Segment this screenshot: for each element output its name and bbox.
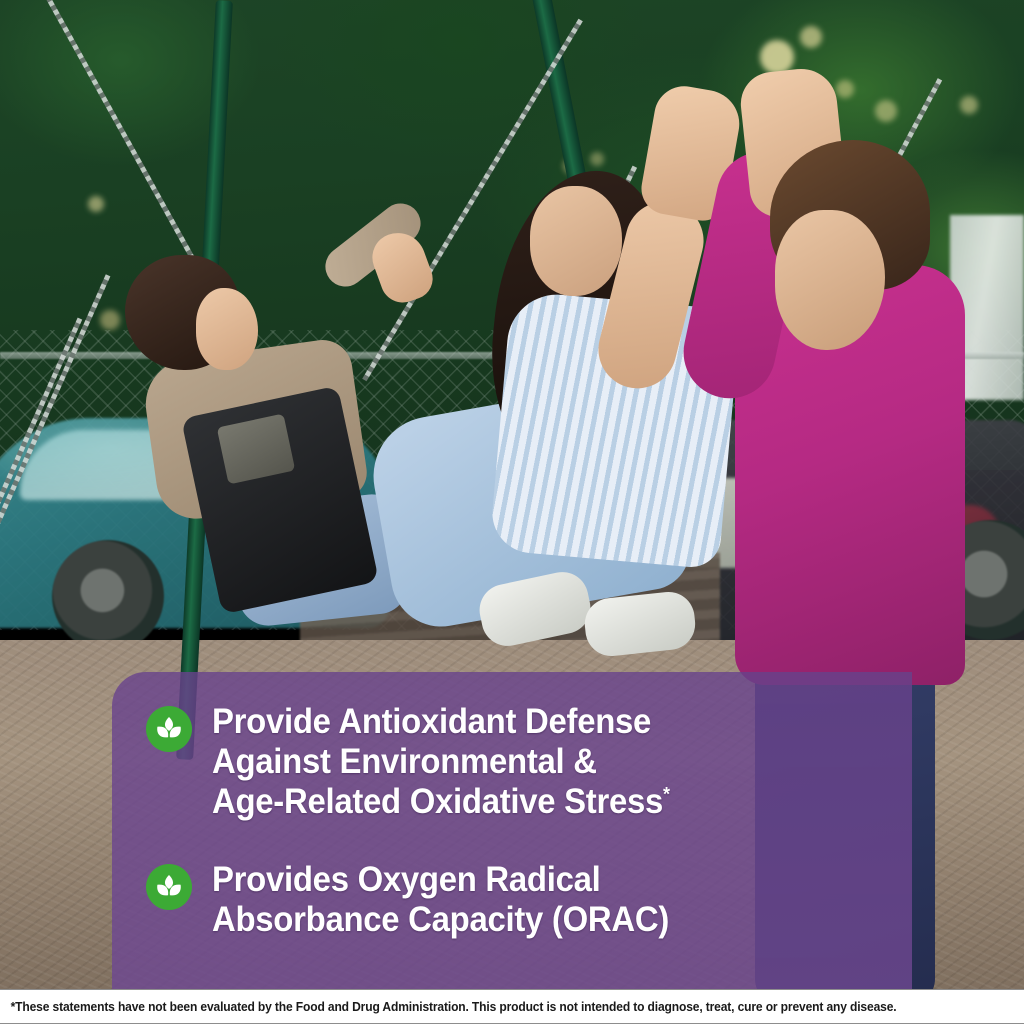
claim-text: Provides Oxygen Radical Absorbance Capac… — [212, 860, 669, 940]
claims-panel: Provide Antioxidant Defense Against Envi… — [112, 672, 912, 989]
leaf-sprout-icon — [146, 864, 192, 910]
bokeh-light — [760, 40, 794, 74]
product-claim-image: Provide Antioxidant Defense Against Envi… — [0, 0, 1024, 1024]
bokeh-light — [100, 310, 120, 330]
claim-item: Provide Antioxidant Defense Against Envi… — [146, 702, 912, 822]
car-wheel — [52, 540, 164, 652]
bokeh-light — [88, 196, 104, 212]
disclaimer-text: *These statements have not been evaluate… — [0, 1000, 896, 1014]
bokeh-light — [800, 26, 822, 48]
claim-text-body: Provides Oxygen Radical Absorbance Capac… — [212, 860, 669, 939]
woman-face — [530, 186, 622, 296]
boy-face — [196, 288, 258, 370]
claim-text: Provide Antioxidant Defense Against Envi… — [212, 702, 670, 822]
bokeh-light — [960, 96, 978, 114]
leaf-sprout-icon — [146, 706, 192, 752]
footnote-marker: * — [663, 784, 670, 805]
bokeh-light — [590, 152, 604, 166]
bokeh-light — [875, 100, 897, 122]
disclaimer-bar: *These statements have not been evaluate… — [0, 989, 1024, 1024]
claim-text-body: Provide Antioxidant Defense Against Envi… — [212, 702, 663, 821]
claim-item: Provides Oxygen Radical Absorbance Capac… — [146, 860, 912, 940]
bokeh-light — [836, 80, 854, 98]
